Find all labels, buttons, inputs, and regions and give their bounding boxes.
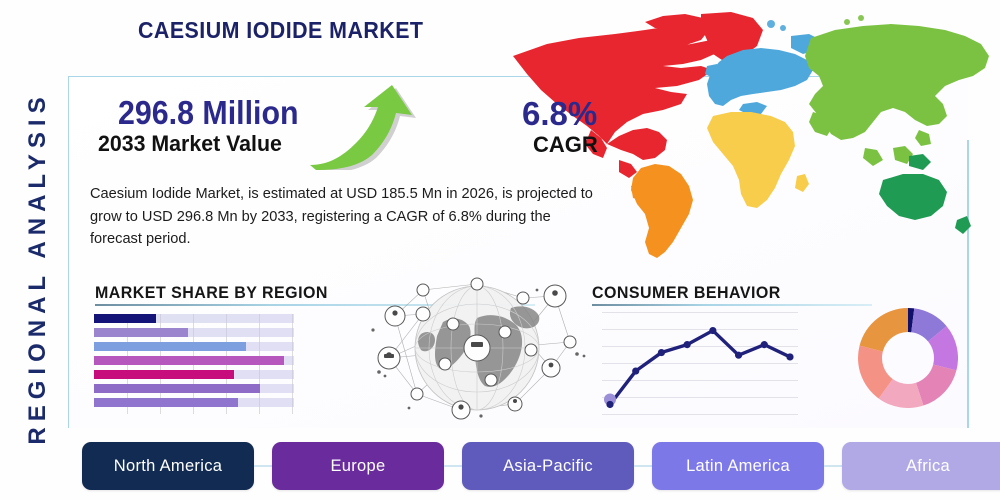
cagr-number: 6.8% <box>522 95 597 133</box>
line-chart-marker <box>684 341 691 348</box>
infographic-canvas: REGIONAL ANALYSIS CAESIUM IODIDE MARKET <box>0 0 1000 500</box>
tab-connector <box>634 465 652 467</box>
map-region-asia <box>805 24 989 166</box>
line-chart-marker <box>786 353 793 360</box>
bar-segment <box>94 398 238 407</box>
section-heading-consumer-behavior: CONSUMER BEHAVIOR <box>592 283 781 303</box>
region-tab-label: Europe <box>330 457 385 476</box>
line-chart-marker <box>709 327 716 334</box>
tab-connector <box>254 465 272 467</box>
market-description: Caesium Iodide Market, is estimated at U… <box>90 183 600 251</box>
bar-segment <box>94 356 284 365</box>
bar-segment <box>94 370 234 379</box>
donut-segments <box>858 308 958 408</box>
region-tab-label: Africa <box>906 457 950 476</box>
region-tab-label: Asia-Pacific <box>503 457 593 476</box>
region-tabs: North AmericaEuropeAsia-PacificLatin Ame… <box>82 442 968 490</box>
region-tab-europe[interactable]: Europe <box>272 442 444 490</box>
tab-connector <box>444 465 462 467</box>
region-tab-africa[interactable]: Africa <box>842 442 1000 490</box>
side-label: REGIONAL ANALYSIS <box>18 58 58 478</box>
bar-segment <box>94 342 246 351</box>
page-title: CAESIUM IODIDE MARKET <box>138 17 423 44</box>
line-chart-marker <box>632 367 639 374</box>
donut-segment <box>860 308 908 352</box>
donut-segment <box>916 364 956 405</box>
cagr-caption: CAGR <box>533 132 598 158</box>
bar-segment <box>94 384 260 393</box>
map-region-south-america <box>631 164 693 258</box>
market-share-bar-chart <box>94 314 294 414</box>
map-region-africa <box>707 112 809 208</box>
consumer-behavior-line-chart <box>602 312 798 416</box>
section-rule-consumer-behavior <box>592 304 872 306</box>
line-chart-marker <box>735 352 742 359</box>
market-value-number: 296.8 Million <box>118 94 299 132</box>
line-chart-marker <box>658 349 665 356</box>
line-chart-series <box>602 312 798 416</box>
bar-segment <box>94 328 188 337</box>
tab-connector <box>824 465 842 467</box>
line-chart-marker <box>606 401 613 408</box>
global-network-people-icon <box>365 272 590 424</box>
map-region-oceania <box>879 154 971 234</box>
region-tab-label: Latin America <box>686 457 790 476</box>
line-chart-marker <box>761 341 768 348</box>
section-heading-market-share: MARKET SHARE BY REGION <box>95 283 328 303</box>
region-tab-north-america[interactable]: North America <box>82 442 254 490</box>
region-tab-label: North America <box>114 457 222 476</box>
consumer-behavior-donut-chart <box>858 308 958 408</box>
region-tab-latin-america[interactable]: Latin America <box>652 442 824 490</box>
market-value-caption: 2033 Market Value <box>98 131 282 157</box>
bar-segment <box>94 314 156 323</box>
region-tab-asia-pacific[interactable]: Asia-Pacific <box>462 442 634 490</box>
growth-arrow-up-icon <box>308 85 418 170</box>
